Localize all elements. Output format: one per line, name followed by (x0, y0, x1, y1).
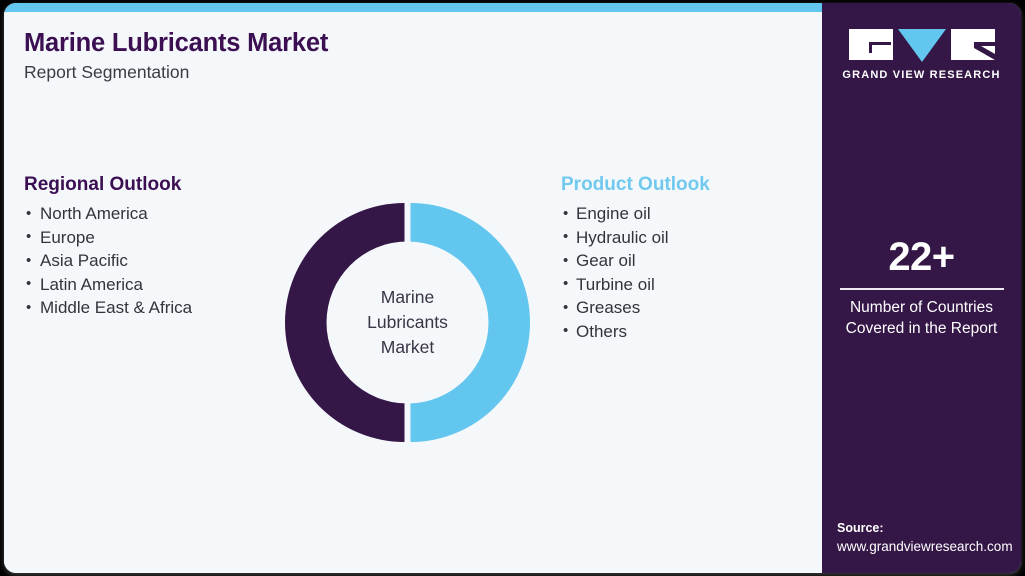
list-item: Turbine oil (561, 273, 811, 297)
country-count-stat: 22+ Number of Countries Covered in the R… (822, 235, 1021, 339)
source-block: Source: www.grandviewresearch.com (837, 519, 1021, 556)
logo-wordmark: GRAND VIEW RESEARCH (822, 69, 1021, 81)
logo-v-icon (898, 29, 946, 62)
infographic-canvas: Marine Lubricants Market Report Segmenta… (0, 0, 1025, 576)
list-item: Others (561, 320, 811, 344)
page-subtitle: Report Segmentation (24, 62, 189, 83)
segmentation-donut-chart: Marine Lubricants Market (266, 181, 549, 464)
list-item: Asia Pacific (24, 249, 264, 273)
list-item: Greases (561, 296, 811, 320)
stat-divider (840, 288, 1004, 290)
report-card: Marine Lubricants Market Report Segmenta… (4, 3, 1021, 573)
regional-outlook-section: Regional Outlook North America Europe As… (24, 174, 264, 320)
stat-label-line-1: Number of Countries (822, 297, 1021, 318)
regional-outlook-heading: Regional Outlook (24, 174, 264, 196)
main-content-area: Marine Lubricants Market Report Segmenta… (4, 12, 822, 573)
logo-r-icon (951, 29, 995, 60)
logo-marks (822, 29, 1021, 62)
source-title: Source: (837, 519, 1021, 537)
top-accent-bar (4, 3, 822, 12)
product-outlook-heading: Product Outlook (561, 174, 811, 196)
donut-hole (327, 242, 489, 404)
source-url[interactable]: www.grandviewresearch.com (837, 537, 1021, 556)
product-outlook-list: Engine oil Hydraulic oil Gear oil Turbin… (561, 202, 811, 343)
list-item: Middle East & Africa (24, 296, 264, 320)
regional-outlook-list: North America Europe Asia Pacific Latin … (24, 202, 264, 320)
logo-g-icon (849, 29, 893, 60)
list-item: Latin America (24, 273, 264, 297)
brand-logo: GRAND VIEW RESEARCH (822, 29, 1021, 81)
donut-svg (266, 181, 549, 464)
list-item: Engine oil (561, 202, 811, 226)
list-item: Gear oil (561, 249, 811, 273)
stat-label: Number of Countries Covered in the Repor… (822, 297, 1021, 339)
list-item: North America (24, 202, 264, 226)
product-outlook-section: Product Outlook Engine oil Hydraulic oil… (561, 174, 811, 343)
list-item: Hydraulic oil (561, 226, 811, 250)
list-item: Europe (24, 226, 264, 250)
stat-value: 22+ (822, 235, 1021, 279)
page-title: Marine Lubricants Market (24, 29, 328, 58)
stat-label-line-2: Covered in the Report (822, 318, 1021, 339)
brand-side-panel: GRAND VIEW RESEARCH 22+ Number of Countr… (822, 3, 1021, 573)
